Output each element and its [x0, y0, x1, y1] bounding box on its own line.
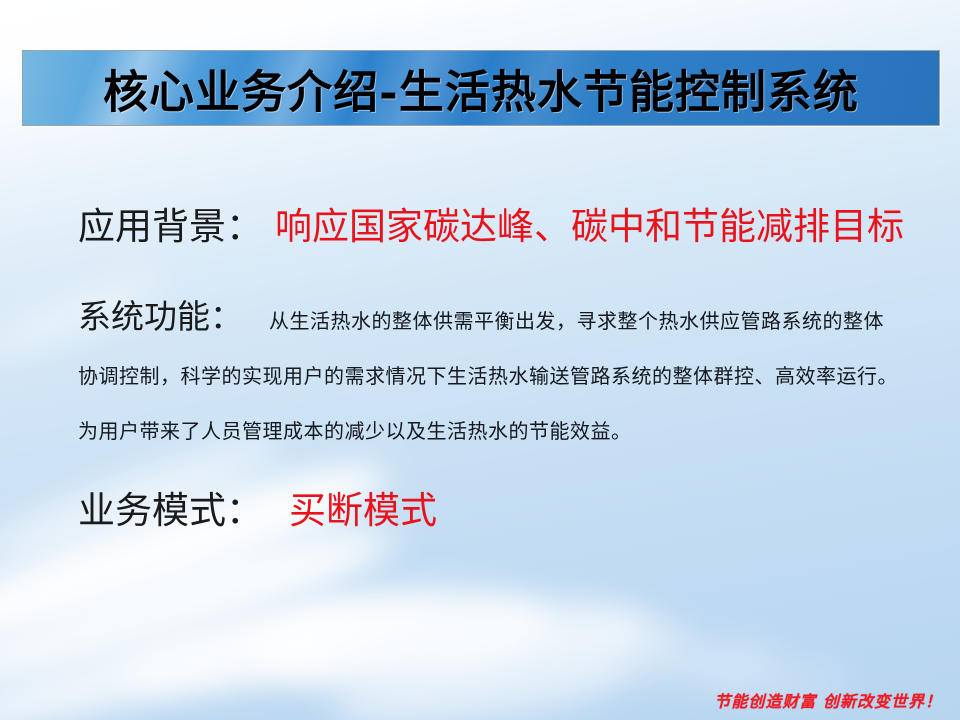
- slide-canvas: 核心业务介绍-生活热水节能控制系统 应用背景：响应国家碳达峰、碳中和节能减排目标…: [0, 0, 960, 720]
- business-model-value: 买断模式: [289, 489, 437, 532]
- system-function-line-2: 协调控制，科学的实现用户的需求情况下生活热水输送管路系统的整体群控、高效率运行。: [78, 366, 898, 386]
- system-function-line-1: 从生活热水的整体供需平衡出发，寻求整个热水供应管路系统的整体: [269, 309, 884, 333]
- footer-slogan: 节能创造财富 创新改变世界！: [714, 688, 942, 712]
- system-function-line-3: 为用户带来了人员管理成本的减少以及生活热水的节能效益。: [78, 421, 632, 441]
- slide-body: 应用背景：响应国家碳达峰、碳中和节能减排目标 系统功能：从生活热水的整体供需平衡…: [0, 0, 960, 720]
- section-business-model: 业务模式：买断模式: [78, 492, 437, 529]
- section-system-function: 系统功能：从生活热水的整体供需平衡出发，寻求整个热水供应管路系统的整体: [78, 300, 884, 333]
- application-background-label: 应用背景：: [78, 205, 263, 248]
- application-background-value: 响应国家碳达峰、碳中和节能减排目标: [275, 205, 904, 248]
- system-function-label: 系统功能：: [78, 297, 243, 336]
- section-application-background: 应用背景：响应国家碳达峰、碳中和节能减排目标: [78, 208, 904, 245]
- business-model-label: 业务模式：: [78, 489, 263, 532]
